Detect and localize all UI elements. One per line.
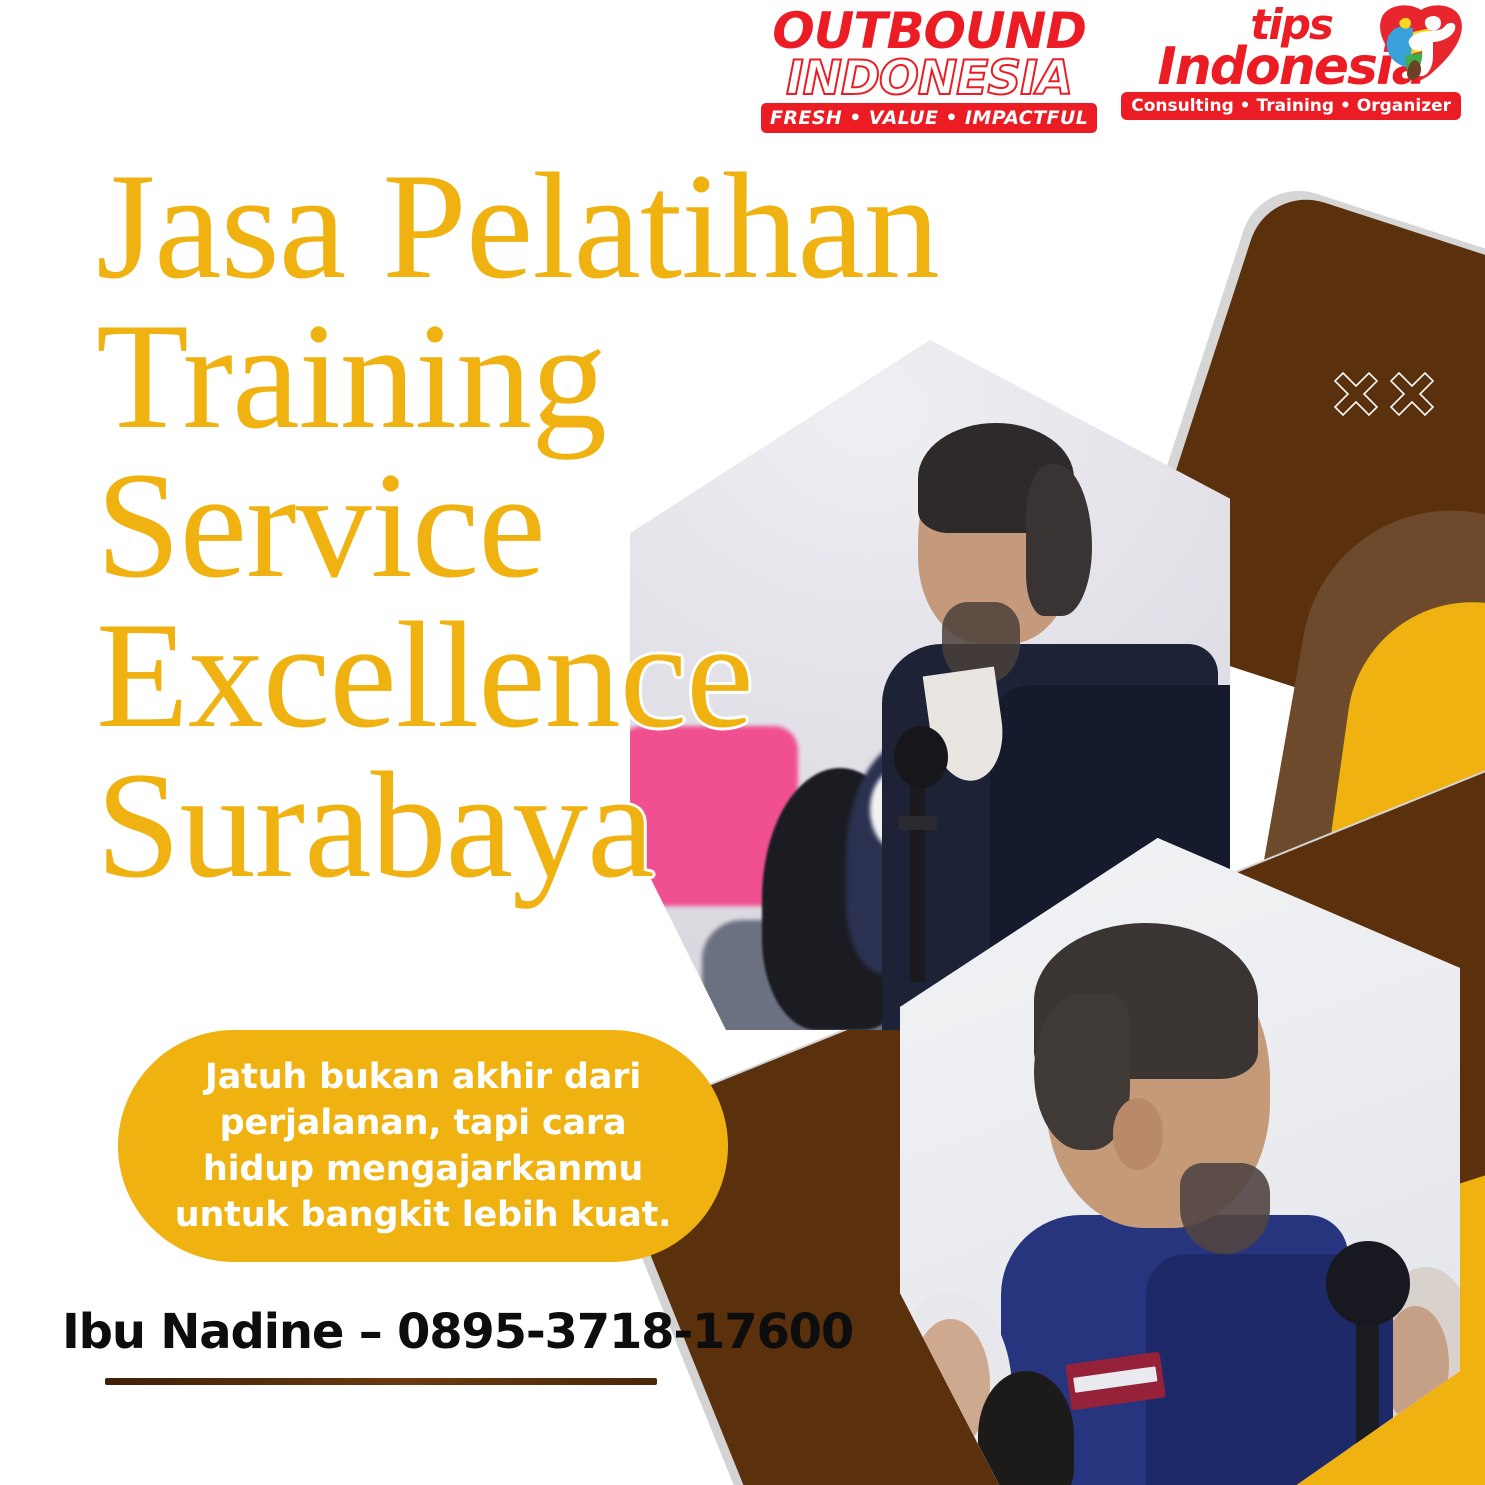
double-x-outline-icon xyxy=(1330,368,1438,420)
outbound-logo-line1: OUTBOUND xyxy=(772,8,1086,54)
tips-indonesia-logo: tips Indonesia Consulting • Training • O… xyxy=(1121,8,1461,120)
contact-line: Ibu Nadine – 0895-3718-17600 xyxy=(62,1304,853,1360)
outbound-logo-tagline: FRESH • VALUE • IMPACTFUL xyxy=(761,103,1097,133)
quote-text: Jatuh bukan akhir dari perjalanan, tapi … xyxy=(170,1054,676,1239)
poster-canvas: OUTBOUND INDONESIA FRESH • VALUE • IMPAC… xyxy=(0,0,1485,1485)
page-title: Jasa Pelatihan Training Service Excellen… xyxy=(96,152,1126,901)
logo-bar: OUTBOUND INDONESIA FRESH • VALUE • IMPAC… xyxy=(761,8,1461,133)
outbound-indonesia-logo: OUTBOUND INDONESIA FRESH • VALUE • IMPAC… xyxy=(761,8,1097,133)
athlete-figure-icon xyxy=(1371,4,1467,91)
tips-logo-tagline: Consulting • Training • Organizer xyxy=(1121,92,1461,120)
quote-pill: Jatuh bukan akhir dari perjalanan, tapi … xyxy=(118,1030,728,1262)
outbound-logo-line2: INDONESIA xyxy=(786,56,1072,101)
contact-underline-rule xyxy=(105,1378,657,1385)
